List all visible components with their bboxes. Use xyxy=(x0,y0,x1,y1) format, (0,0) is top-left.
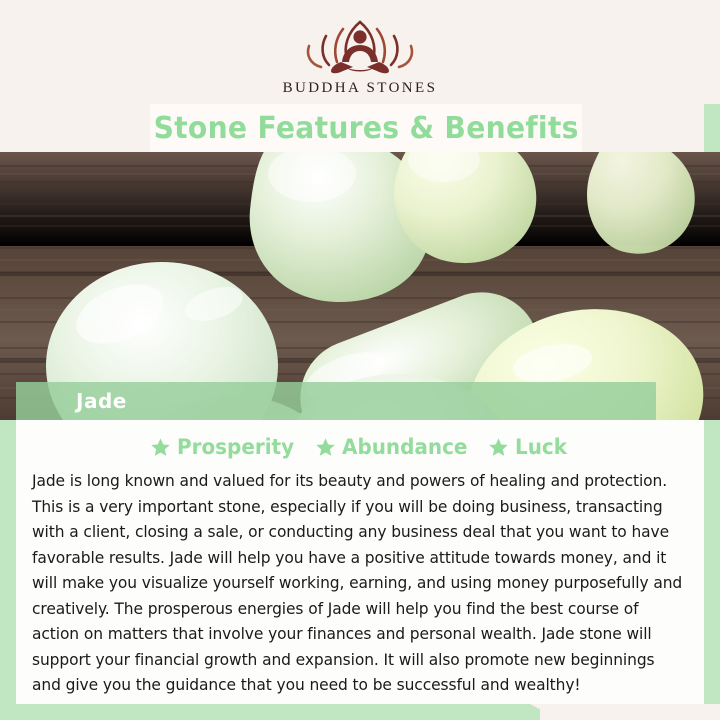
page-title: Stone Features & Benefits xyxy=(153,111,578,146)
benefits-row: Prosperity Abundance Luck xyxy=(16,420,704,463)
brand-header: BUDDHA STONES xyxy=(0,0,720,104)
star-icon xyxy=(150,437,171,458)
decor-bottom-right-gap xyxy=(540,704,720,720)
benefit-label: Prosperity xyxy=(177,435,294,459)
stone-description: Jade is long known and valued for its be… xyxy=(32,468,685,698)
infographic-page: BUDDHA STONES Stone Features & Benefits xyxy=(0,0,720,720)
benefit-label: Abundance xyxy=(342,435,467,459)
decor-bottom-bar xyxy=(0,704,560,720)
benefit-item-luck: Luck xyxy=(488,435,570,459)
stone-name: Jade xyxy=(76,389,127,413)
star-icon xyxy=(488,437,509,458)
stone-name-banner: Jade xyxy=(16,382,656,420)
brand-name: BUDDHA STONES xyxy=(0,80,720,97)
benefit-item-prosperity: Prosperity xyxy=(150,435,300,459)
lotus-meditation-icon xyxy=(0,12,720,78)
content-panel: Prosperity Abundance Luck Jade is long k… xyxy=(16,420,704,704)
star-icon xyxy=(315,437,336,458)
title-banner: Stone Features & Benefits xyxy=(150,104,582,152)
benefit-label: Luck xyxy=(515,435,567,459)
logo-block: BUDDHA STONES xyxy=(0,12,720,97)
stone-photo xyxy=(0,152,720,420)
benefit-item-abundance: Abundance xyxy=(315,435,474,459)
